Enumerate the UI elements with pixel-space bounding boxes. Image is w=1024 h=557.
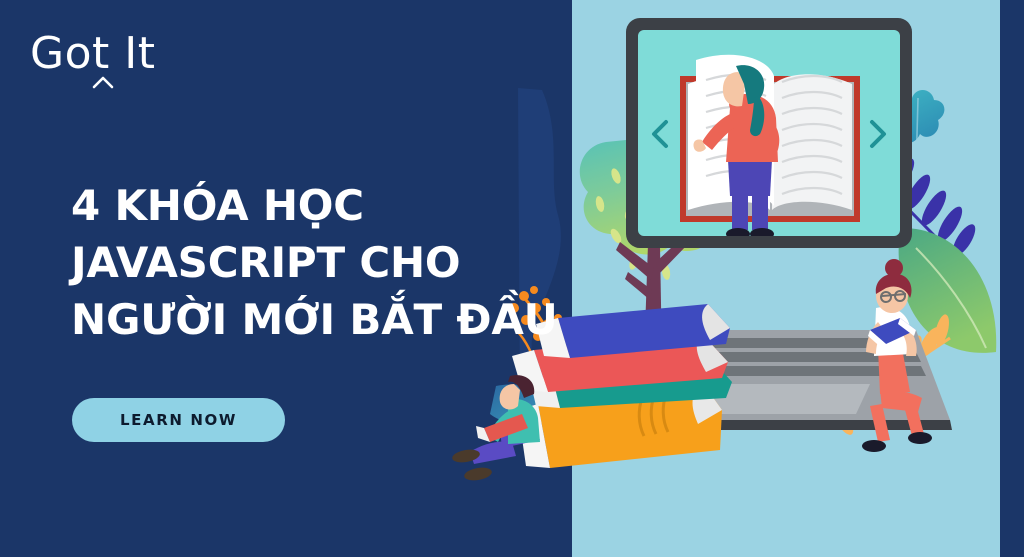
headline-line-1: 4 KHÓA HỌC [71,177,541,234]
logo-text: Got It [30,29,210,79]
caret-up-icon [92,75,114,89]
learn-now-button[interactable]: LEARN NOW [72,398,285,442]
headline-line-2: JAVASCRIPT CHO [71,234,541,291]
laptop-screen [626,18,912,248]
headline-line-3: NGƯỜI MỚI BẮT ĐẦU [71,291,541,348]
logo[interactable]: Got It [30,29,210,91]
promo-banner: Got It 4 KHÓA HỌC JAVASCRIPT CHO NGƯỜI M… [0,0,1024,557]
page-title: 4 KHÓA HỌC JAVASCRIPT CHO NGƯỜI MỚI BẮT … [71,177,541,348]
